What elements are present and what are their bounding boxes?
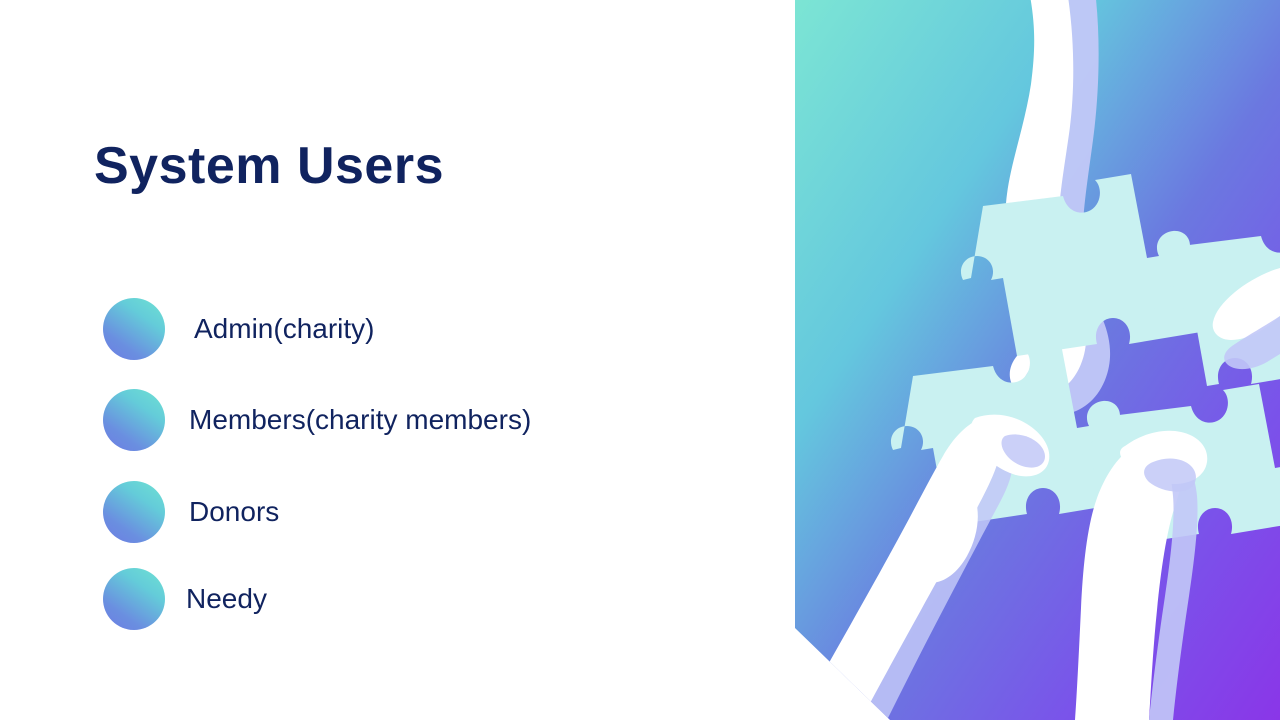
list-item-label: Members(charity members): [189, 403, 531, 437]
list-item: Members(charity members): [103, 389, 531, 451]
list-item: Needy: [103, 568, 267, 630]
bullet-list: Admin(charity) Members(charity members) …: [0, 0, 795, 720]
list-item-label: Needy: [186, 582, 267, 616]
gradient-circle-bullet-icon: [103, 389, 165, 451]
list-item: Donors: [103, 481, 279, 543]
list-item: Admin(charity): [103, 298, 374, 360]
gradient-circle-bullet-icon: [103, 568, 165, 630]
slide: System Users Admin(charity) Members(char…: [0, 0, 1280, 720]
list-item-label: Donors: [189, 495, 279, 529]
illustration-clip-group: [795, 0, 1280, 720]
illustration-canvas: [795, 0, 1280, 720]
puzzle-hands-illustration: [795, 0, 1280, 720]
gradient-circle-bullet-icon: [103, 298, 165, 360]
slide-content: System Users Admin(charity) Members(char…: [0, 0, 795, 720]
list-item-label: Admin(charity): [194, 312, 374, 346]
gradient-circle-bullet-icon: [103, 481, 165, 543]
